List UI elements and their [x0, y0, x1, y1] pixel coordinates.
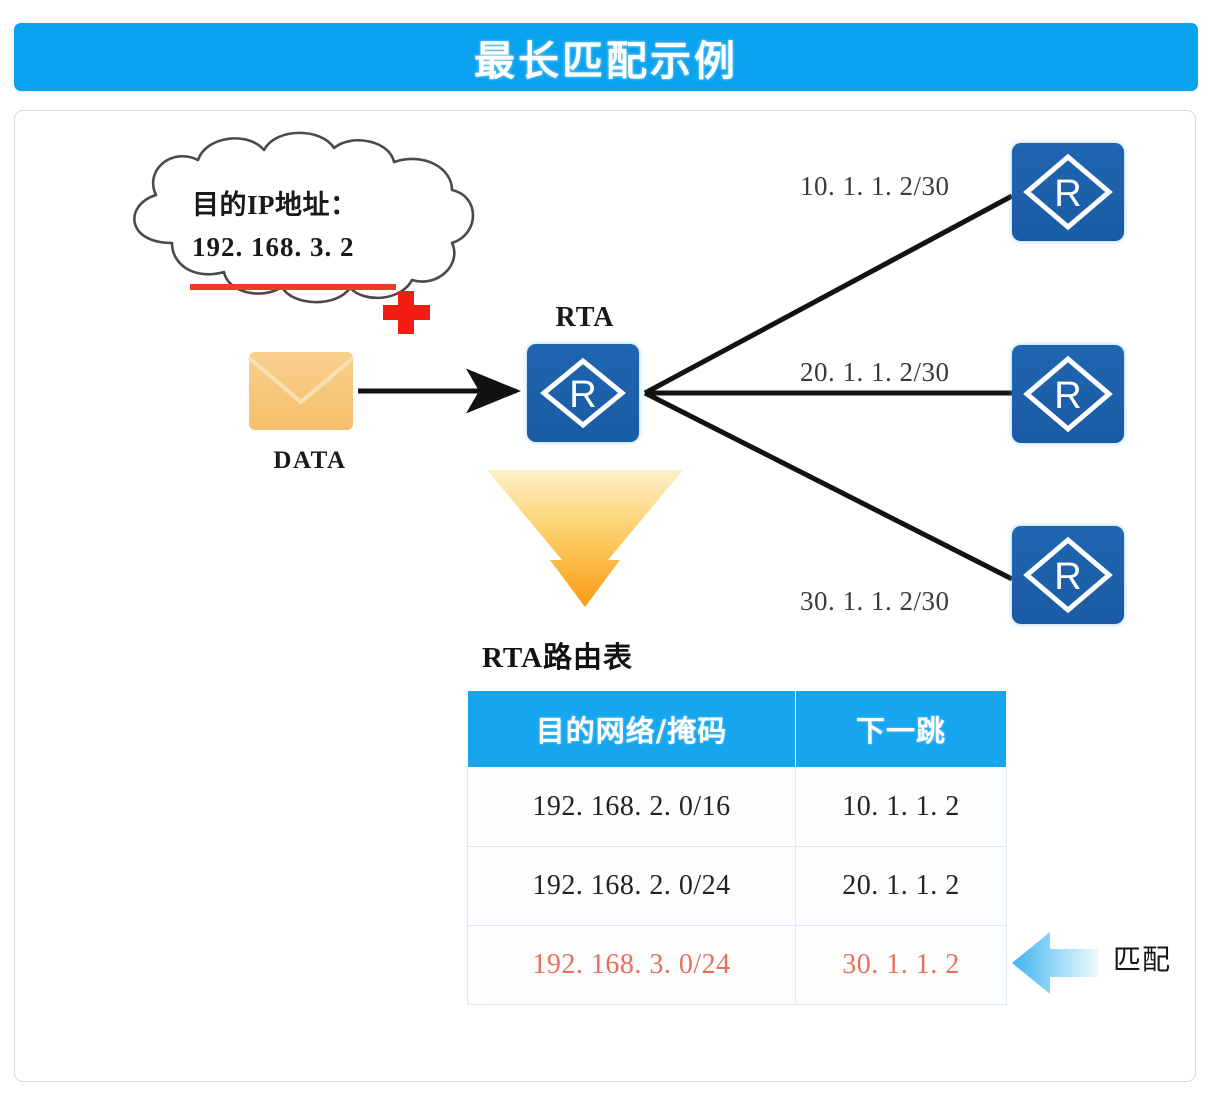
- cell-network: 192. 168. 2. 0/24: [468, 847, 796, 926]
- match-annotation-label: 匹配: [1113, 938, 1171, 978]
- cell-next-hop: 20. 1. 1. 2: [796, 847, 1007, 926]
- table-row-matched[interactable]: 192. 168. 3. 0/24 30. 1. 1. 2: [468, 926, 1007, 1005]
- link-label-3: 30. 1. 1. 2/30: [800, 586, 950, 617]
- title-banner: 最长匹配示例: [14, 23, 1198, 91]
- routing-table: 目的网络/掩码 下一跳 192. 168. 2. 0/16 10. 1. 1. …: [467, 690, 1007, 1005]
- router-icon-neighbor-3[interactable]: R: [1012, 526, 1124, 624]
- packet-label: DATA: [250, 447, 370, 475]
- routing-table-title: RTA路由表: [482, 634, 633, 676]
- table-header-next-hop: 下一跳: [796, 691, 1007, 768]
- router-icon-neighbor-1[interactable]: R: [1012, 143, 1124, 241]
- rta-label: RTA: [520, 302, 650, 334]
- svg-text:R: R: [569, 374, 596, 416]
- table-header-network: 目的网络/掩码: [468, 691, 796, 768]
- cell-network: 192. 168. 2. 0/16: [468, 768, 796, 847]
- router-icon-neighbor-2[interactable]: R: [1012, 345, 1124, 443]
- page-root: 最长匹配示例: [0, 0, 1212, 1105]
- svg-text:R: R: [1054, 556, 1081, 598]
- table-row[interactable]: 192. 168. 2. 0/24 20. 1. 1. 2: [468, 847, 1007, 926]
- table-row[interactable]: 192. 168. 2. 0/16 10. 1. 1. 2: [468, 768, 1007, 847]
- cell-next-hop: 30. 1. 1. 2: [796, 926, 1007, 1005]
- router-glyph-2: R: [1012, 345, 1124, 443]
- link-label-1: 10. 1. 1. 2/30: [800, 171, 950, 202]
- page-title: 最长匹配示例: [474, 27, 738, 87]
- router-glyph-3: R: [1012, 526, 1124, 624]
- link-label-2: 20. 1. 1. 2/30: [800, 357, 950, 388]
- cell-network: 192. 168. 3. 0/24: [468, 926, 796, 1005]
- svg-text:R: R: [1054, 173, 1081, 215]
- router-glyph-1: R: [1012, 143, 1124, 241]
- cloud-text-line2: 192. 168. 3. 2: [192, 227, 492, 269]
- cloud-text-line1: 目的IP地址：: [192, 185, 492, 227]
- cloud-text: 目的IP地址： 192. 168. 3. 2: [192, 185, 492, 269]
- router-glyph-rta: R: [527, 344, 639, 442]
- svg-text:R: R: [1054, 375, 1081, 417]
- cell-next-hop: 10. 1. 1. 2: [796, 768, 1007, 847]
- table-header-row: 目的网络/掩码 下一跳: [468, 691, 1007, 768]
- router-icon-rta[interactable]: R: [527, 344, 639, 442]
